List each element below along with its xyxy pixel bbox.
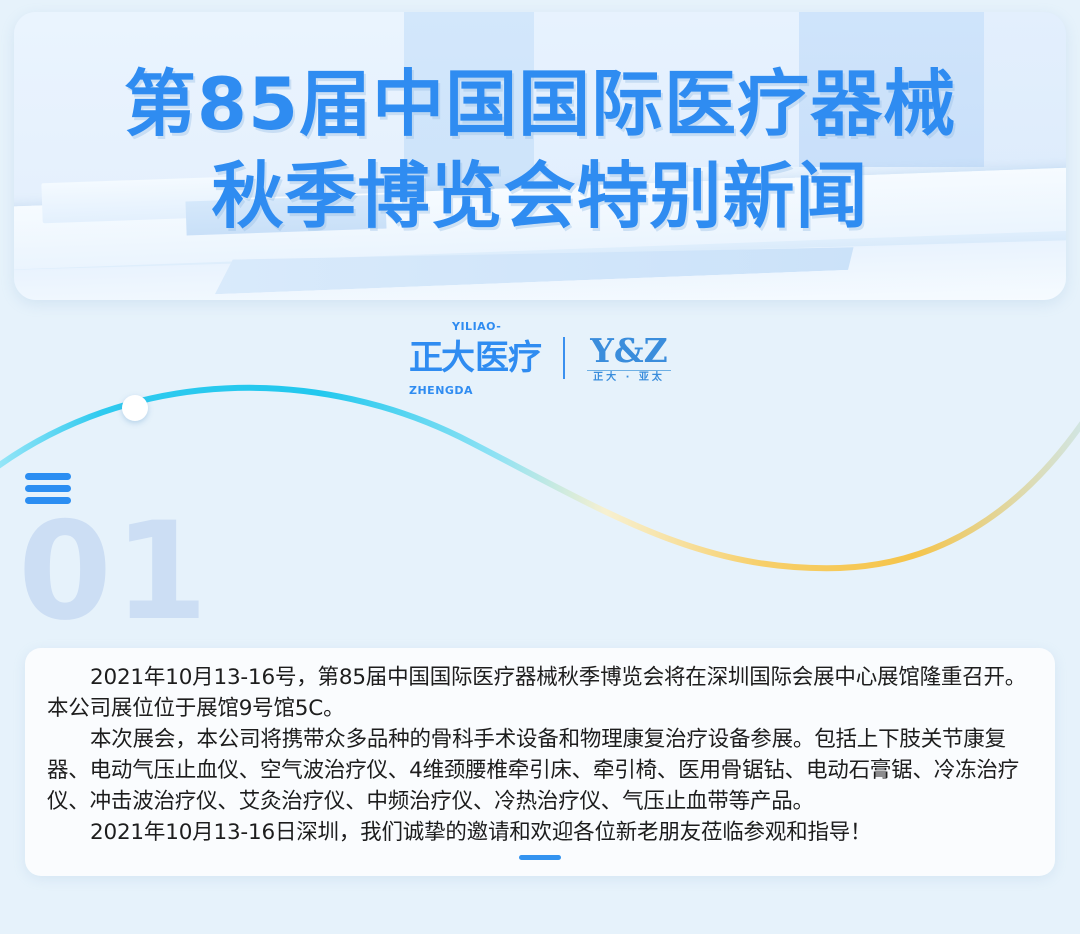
section-number: 01 — [18, 504, 210, 639]
hamburger-bar — [25, 485, 71, 492]
hero-title-line-2: 秋季博览会特别新闻 — [14, 150, 1066, 242]
logo-yz-rule — [587, 370, 671, 371]
logo-yiliao-pinyin: YILIAO- — [452, 320, 501, 333]
hero-title-line-1: 第85届中国国际医疗器械 — [124, 62, 956, 146]
body-paragraph: 本次展会，本公司将携带众多品种的骨科手术设备和物理康复治疗设备参展。包括上下肢关… — [47, 724, 1031, 817]
hamburger-bar — [25, 473, 71, 480]
logo-yz-mark: Y&Z — [590, 334, 667, 367]
body-paragraph: 2021年10月13-16日深圳，我们诚挚的邀请和欢迎各位新老朋友莅临参观和指导… — [47, 817, 1031, 848]
body-paragraph: 2021年10月13-16号，第85届中国国际医疗器械秋季博览会将在深圳国际会展… — [47, 662, 1031, 724]
content-card: 2021年10月13-16号，第85届中国国际医疗器械秋季博览会将在深圳国际会展… — [25, 648, 1055, 876]
hero-banner: 第85届中国国际医疗器械 秋季博览会特别新闻 — [14, 12, 1066, 300]
page-title: 第85届中国国际医疗器械 秋季博览会特别新闻 — [14, 58, 1066, 242]
wave-marker-dot — [122, 395, 148, 421]
logo-yiliao-hanzi: 医疗 — [475, 341, 541, 375]
scroll-indicator[interactable] — [519, 855, 561, 860]
logo-zhengda-hanzi: 正大 — [409, 341, 473, 375]
